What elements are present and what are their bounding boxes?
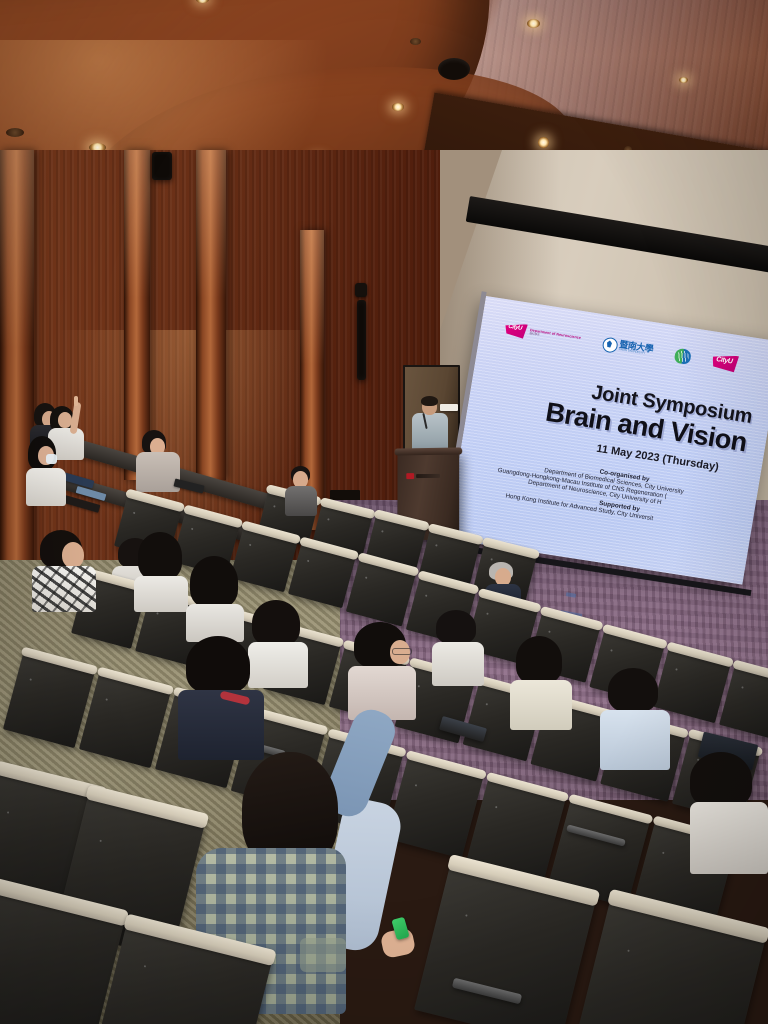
ceiling-speaker-grille xyxy=(438,58,470,80)
audience-member xyxy=(600,668,674,768)
hair xyxy=(436,610,476,644)
audience-member xyxy=(32,530,102,610)
podium-logo-mark-icon xyxy=(406,473,414,479)
podium-name-card xyxy=(440,404,458,411)
audience-member xyxy=(285,466,321,514)
wall-speaker-box xyxy=(152,152,172,180)
hair xyxy=(190,556,238,608)
presenter-hair xyxy=(421,396,438,406)
torso xyxy=(432,642,484,686)
torso xyxy=(134,576,188,612)
auditorium-photo: CityU Department of Neuroscience 腦科學系 暨南… xyxy=(0,0,768,1024)
audience-member xyxy=(134,532,194,610)
torso xyxy=(26,468,66,506)
wall-column xyxy=(0,150,34,590)
downlight-icon xyxy=(392,103,404,111)
downlight-icon xyxy=(679,77,688,83)
torso xyxy=(510,680,572,730)
audience-member xyxy=(690,752,768,872)
torso xyxy=(178,690,264,760)
downlight-icon xyxy=(527,19,540,28)
audience-member xyxy=(26,436,72,506)
pointing-finger xyxy=(74,396,78,406)
audience-member xyxy=(186,556,248,640)
podium-institution-logo xyxy=(406,472,440,479)
hair xyxy=(516,636,562,684)
hair xyxy=(138,532,182,580)
downlight-icon xyxy=(538,137,549,148)
arm xyxy=(300,938,346,972)
torso xyxy=(32,566,96,612)
torso xyxy=(690,802,768,874)
auditorium-seat[interactable] xyxy=(574,899,766,1024)
downlight-icon xyxy=(410,38,421,45)
torso xyxy=(600,710,670,770)
podium-top-surface xyxy=(395,447,463,455)
torso xyxy=(285,486,317,516)
hair xyxy=(690,752,752,808)
hair xyxy=(186,636,250,694)
head xyxy=(62,542,84,568)
podium-logo-wordmark xyxy=(416,473,440,477)
wall-speaker-column xyxy=(357,300,366,380)
face-mask xyxy=(46,454,57,464)
audience-member xyxy=(178,636,270,756)
eyeglasses-icon xyxy=(392,648,412,655)
audience-member xyxy=(432,610,488,684)
camera-mount-icon xyxy=(355,283,367,297)
wall-column xyxy=(196,150,226,480)
hair xyxy=(608,668,658,712)
downlight-icon xyxy=(6,128,24,137)
audience-member xyxy=(510,636,576,728)
audience-member-with-glasses xyxy=(348,622,420,718)
